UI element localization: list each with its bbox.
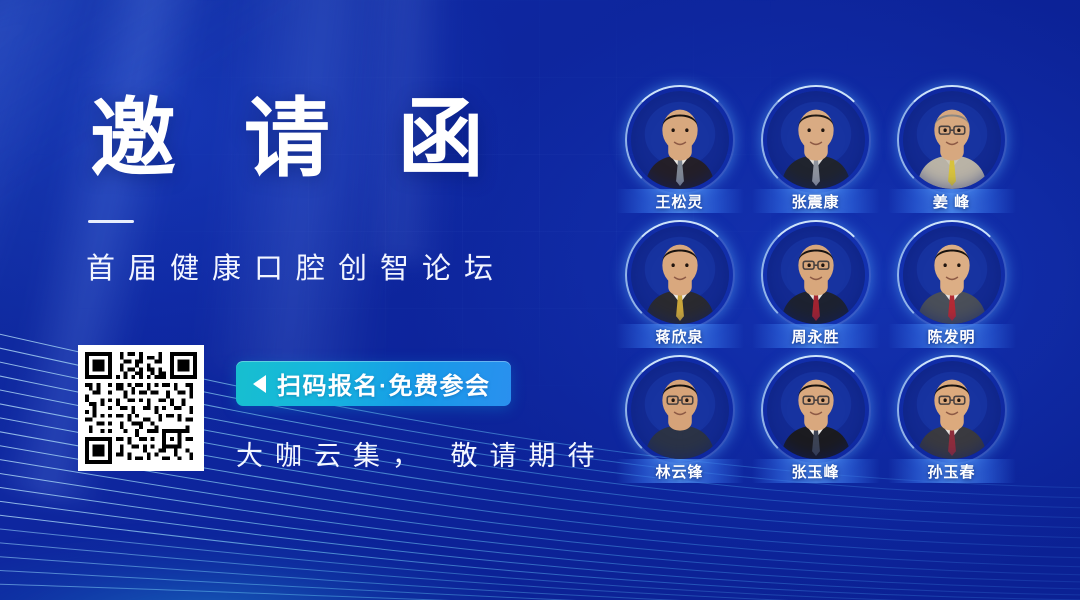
speaker-photo [903, 226, 1001, 324]
portrait-illustration [631, 361, 729, 459]
speaker-card[interactable]: 张震康 [749, 86, 882, 221]
avatar-ring [764, 88, 868, 192]
avatar-ring [628, 223, 732, 327]
page-title: 邀 请 函 [84, 96, 604, 182]
avatar-ring [628, 88, 732, 192]
speaker-name: 张震康 [791, 191, 839, 212]
portrait-illustration [631, 226, 729, 324]
speaker-photo [903, 361, 1001, 459]
speaker-name: 张玉峰 [791, 461, 839, 482]
speaker-photo [767, 361, 865, 459]
avatar-ring [900, 358, 1004, 462]
speaker-card[interactable]: 孙玉春 [885, 356, 1018, 491]
speaker-name: 林云锋 [655, 461, 703, 482]
speaker-grid: 王松灵张震康姜 峰蒋欣泉周永胜陈发明林云锋张玉峰孙玉春 [613, 86, 1018, 491]
speaker-card[interactable]: 林云锋 [613, 356, 746, 491]
speaker-name: 周永胜 [791, 326, 839, 347]
qr-code-image [85, 352, 197, 464]
title-divider [88, 220, 134, 223]
speaker-name: 蒋欣泉 [655, 326, 703, 347]
speaker-name: 王松灵 [655, 191, 703, 212]
portrait-illustration [903, 361, 1001, 459]
speaker-name: 孙玉春 [927, 461, 975, 482]
portrait-illustration [767, 91, 865, 189]
speaker-card[interactable]: 张玉峰 [749, 356, 882, 491]
speaker-nameplate: 孙玉春 [888, 459, 1016, 483]
speaker-card[interactable]: 蒋欣泉 [613, 221, 746, 356]
speaker-nameplate: 张震康 [752, 189, 880, 213]
avatar-ring [764, 358, 868, 462]
portrait-illustration [631, 91, 729, 189]
cta-and-tagline: 扫码报名·免费参会 大咖云集， 敬请期待 [236, 345, 607, 473]
speaker-card[interactable]: 陈发明 [885, 221, 1018, 356]
portrait-illustration [767, 361, 865, 459]
speaker-nameplate: 周永胜 [752, 324, 880, 348]
left-arrow-icon [253, 375, 266, 393]
scan-register-button[interactable]: 扫码报名·免费参会 [236, 361, 511, 406]
avatar-ring [900, 223, 1004, 327]
speaker-photo [767, 226, 865, 324]
registration-block: 扫码报名·免费参会 大咖云集， 敬请期待 [78, 345, 598, 473]
avatar-ring [764, 223, 868, 327]
speaker-photo [631, 361, 729, 459]
tagline-text: 大咖云集， 敬请期待 [236, 434, 607, 473]
speaker-nameplate: 蒋欣泉 [616, 324, 744, 348]
speaker-nameplate: 姜 峰 [888, 189, 1016, 213]
speaker-name: 陈发明 [927, 326, 975, 347]
speaker-photo [903, 91, 1001, 189]
invitation-poster: 邀 请 函 首届健康口腔创智论坛 [0, 0, 1080, 600]
qr-code[interactable] [78, 345, 204, 471]
scan-register-label: 扫码报名·免费参会 [277, 366, 491, 401]
speaker-card[interactable]: 周永胜 [749, 221, 882, 356]
speaker-nameplate: 林云锋 [616, 459, 744, 483]
speaker-nameplate: 张玉峰 [752, 459, 880, 483]
headline-block: 邀 请 函 首届健康口腔创智论坛 [84, 96, 604, 287]
avatar-ring [900, 88, 1004, 192]
portrait-illustration [903, 226, 1001, 324]
portrait-illustration [767, 226, 865, 324]
avatar-ring [628, 358, 732, 462]
speaker-nameplate: 陈发明 [888, 324, 1016, 348]
speaker-card[interactable]: 王松灵 [613, 86, 746, 221]
speaker-nameplate: 王松灵 [616, 189, 744, 213]
speaker-photo [631, 91, 729, 189]
portrait-illustration [903, 91, 1001, 189]
page-subtitle: 首届健康口腔创智论坛 [86, 245, 604, 287]
speaker-card[interactable]: 姜 峰 [885, 86, 1018, 221]
speaker-name: 姜 峰 [933, 191, 970, 212]
speaker-photo [631, 226, 729, 324]
speaker-photo [767, 91, 865, 189]
